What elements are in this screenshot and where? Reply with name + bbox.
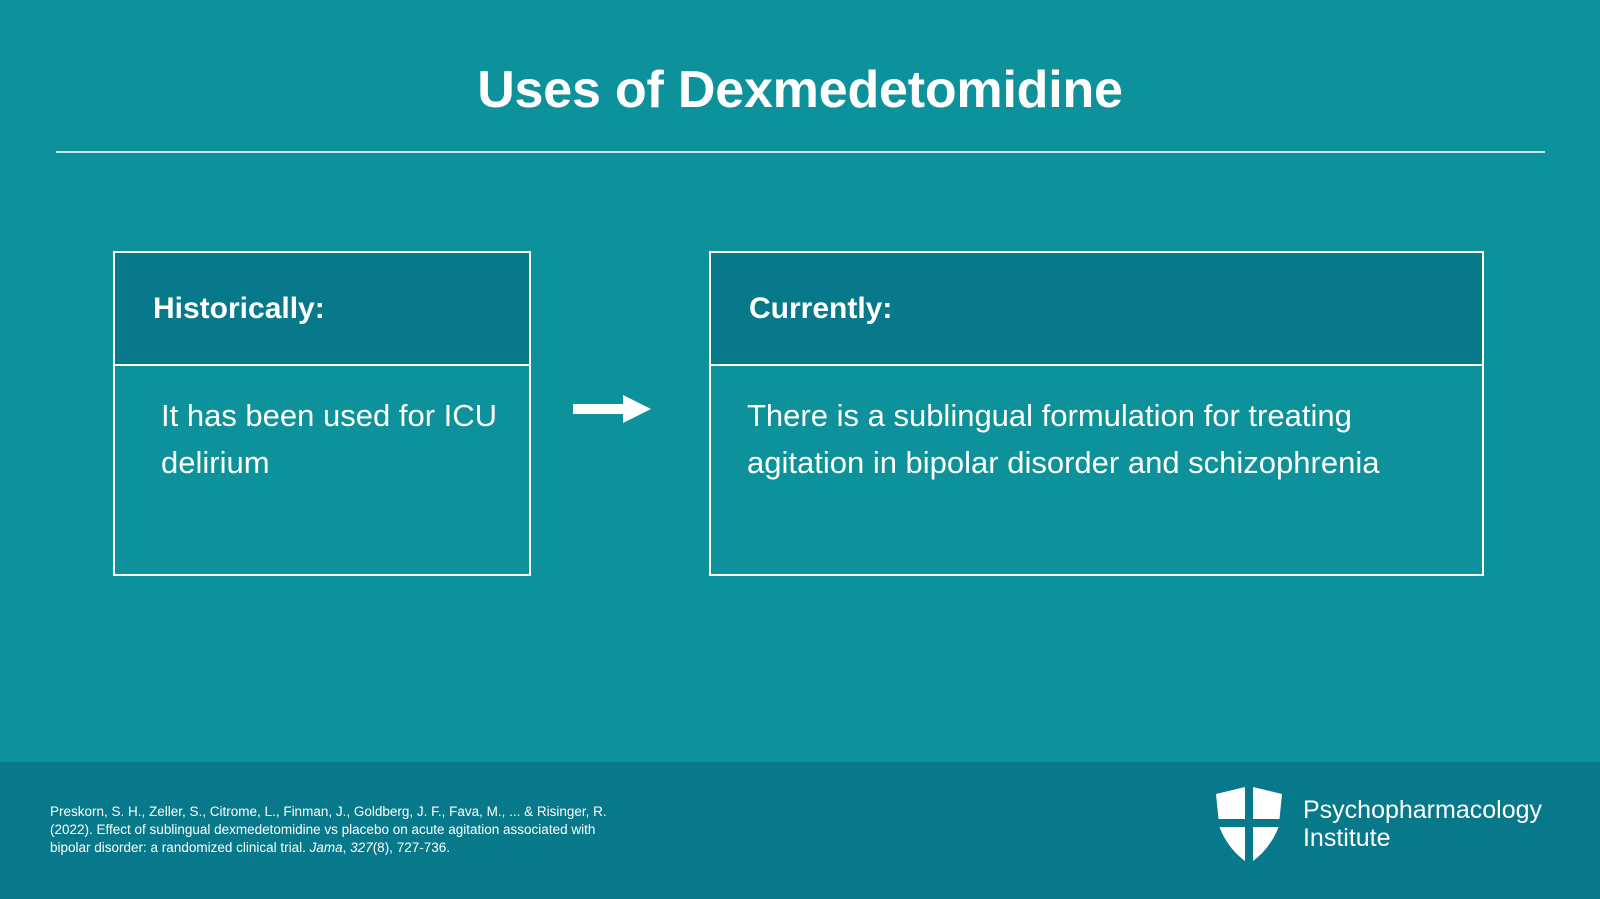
card-currently-body: There is a sublingual formulation for tr… (711, 366, 1482, 486)
arrow-right-icon (573, 395, 651, 423)
card-currently-header: Currently: (711, 253, 1482, 366)
card-currently-header-label: Currently: (749, 292, 892, 325)
slide-root: Uses of Dexmedetomidine Historically: It… (0, 0, 1600, 899)
brand-name-line-1: Psychopharmacology (1303, 796, 1542, 824)
card-currently: Currently: There is a sublingual formula… (709, 251, 1484, 576)
title-divider (56, 151, 1545, 153)
card-currently-body-text: There is a sublingual formulation for tr… (747, 392, 1422, 486)
citation-line-3: bipolar disorder: a randomized clinical … (50, 839, 690, 857)
brand-logo: Psychopharmacology Institute (1212, 782, 1542, 866)
citation-journal-name: Jama (310, 840, 343, 855)
citation-line-2: (2022). Effect of sublingual dexmedetomi… (50, 821, 690, 839)
brand-name-line-2: Institute (1303, 824, 1542, 853)
card-historically: Historically: It has been used for ICU d… (113, 251, 531, 576)
shield-logo-icon (1212, 782, 1286, 866)
citation-line-1: Preskorn, S. H., Zeller, S., Citrome, L.… (50, 803, 690, 821)
card-historically-header: Historically: (115, 253, 529, 366)
page-title: Uses of Dexmedetomidine (0, 62, 1600, 119)
card-historically-header-label: Historically: (153, 292, 325, 325)
citation-line-3-pre: bipolar disorder: a randomized clinical … (50, 840, 310, 855)
brand-logo-text: Psychopharmacology Institute (1303, 796, 1542, 853)
citation-reference: Preskorn, S. H., Zeller, S., Citrome, L.… (50, 803, 690, 858)
citation-line-3-post: (8), 727-736. (373, 840, 450, 855)
card-historically-body: It has been used for ICU delirium (115, 366, 529, 486)
card-historically-body-text: It has been used for ICU delirium (161, 392, 511, 486)
citation-volume: 327 (350, 840, 373, 855)
